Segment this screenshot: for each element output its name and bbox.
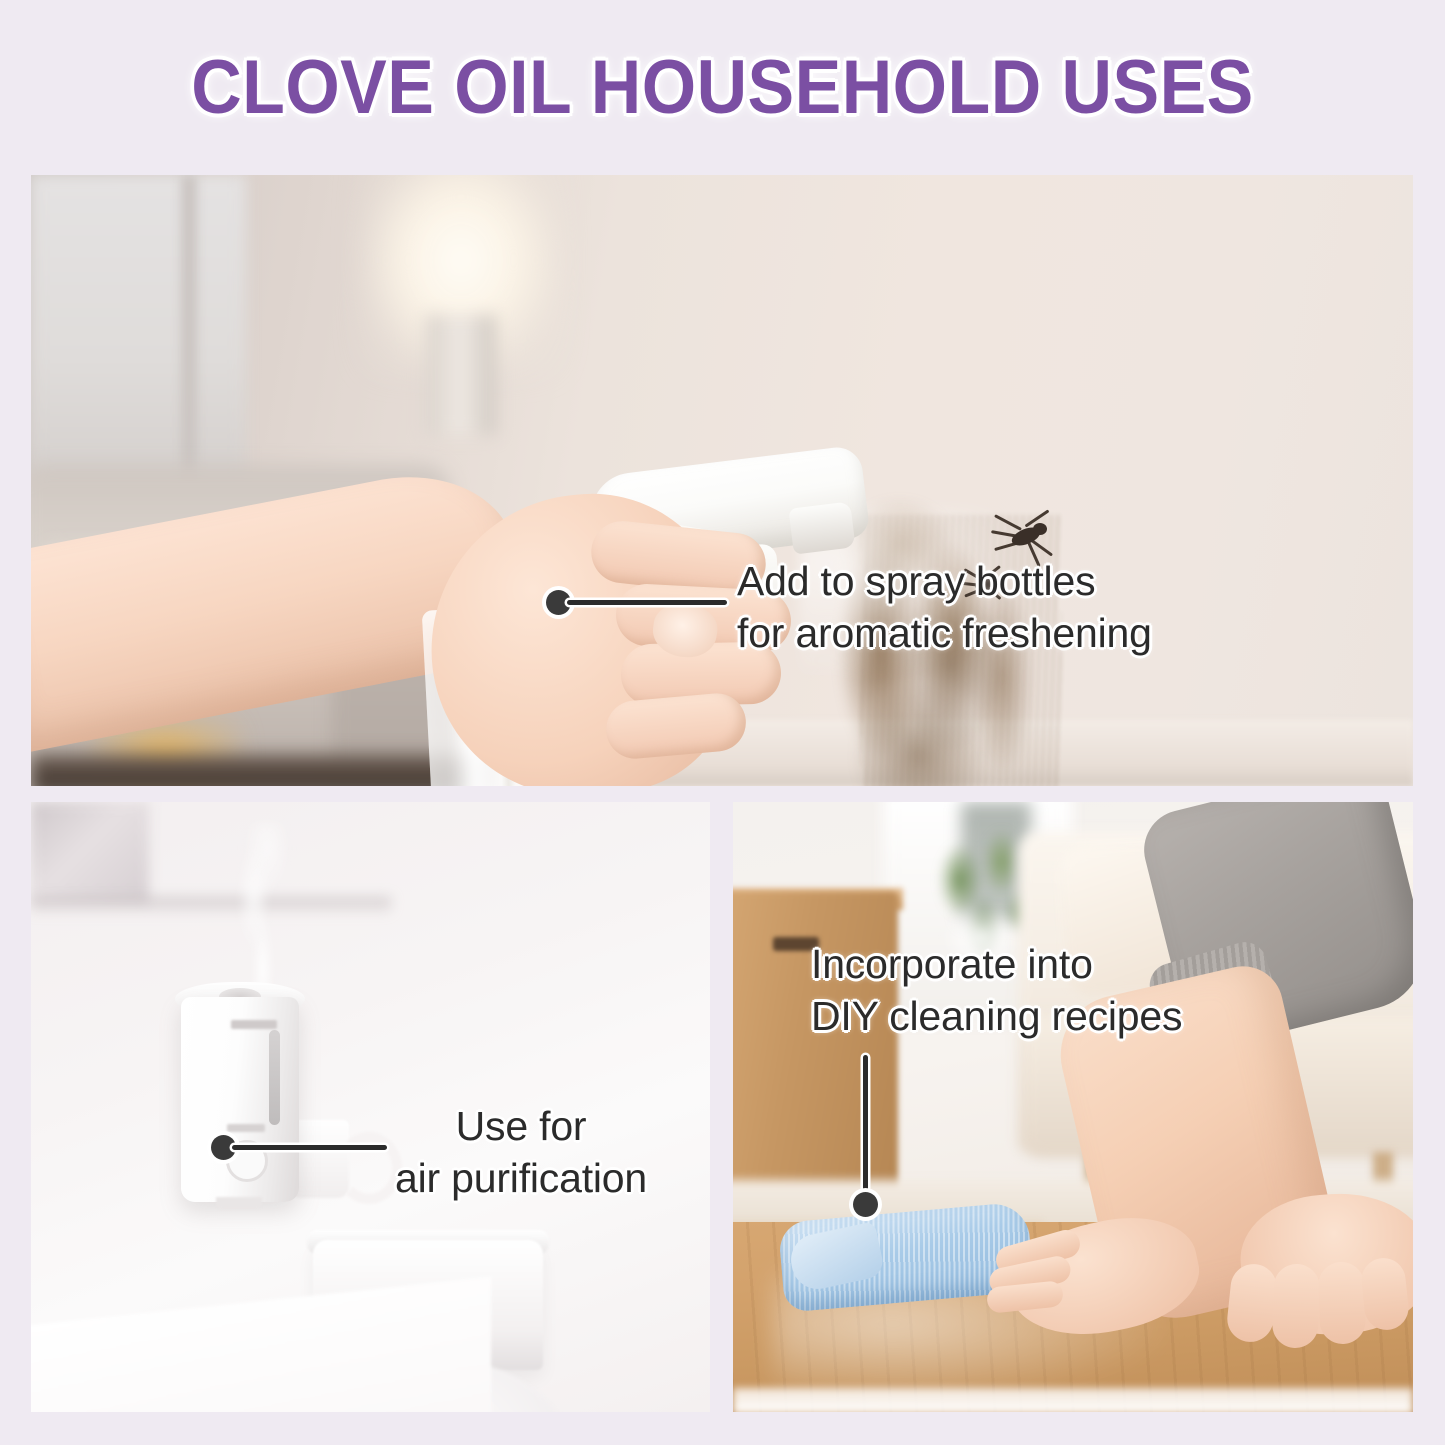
window-blur (31, 175, 246, 505)
page-title: CLOVE OIL HOUSEHOLD USES (191, 44, 1254, 131)
floor-shadow (31, 755, 491, 786)
floor-bottom-fade (733, 1388, 1413, 1412)
hand2-finger-3 (1318, 1261, 1367, 1345)
callout-dot-diy (853, 1192, 878, 1217)
lamp-base (426, 315, 496, 435)
header-bar: CLOVE OIL HOUSEHOLD USES (0, 0, 1445, 175)
wall-art-blur (31, 802, 149, 902)
hand2-finger-2 (1272, 1263, 1321, 1349)
window-mullion (181, 175, 197, 505)
humidifier-brand-mark (231, 1020, 277, 1029)
spray-nozzle (788, 501, 855, 554)
caption-diy-cleaning: Incorporate into DIY cleaning recipes (811, 938, 1182, 1043)
callout-line-diy (863, 1055, 868, 1200)
humidifier-foot (216, 1197, 262, 1209)
caption-spray-bottles: Add to spray bottles for aromatic freshe… (737, 555, 1152, 660)
callout-line-spray (567, 600, 727, 605)
humidifier-label (227, 1124, 265, 1132)
caption-air-purification: Use for air purification (371, 1100, 671, 1205)
humidifier-water-window (269, 1030, 280, 1125)
callout-line-air (232, 1145, 387, 1150)
panel-diy-cleaning: Incorporate into DIY cleaning recipes (733, 802, 1413, 1412)
panel-air-purification: Use for air purification (31, 802, 710, 1412)
panel-spray-bottle: Add to spray bottles for aromatic freshe… (31, 175, 1413, 786)
